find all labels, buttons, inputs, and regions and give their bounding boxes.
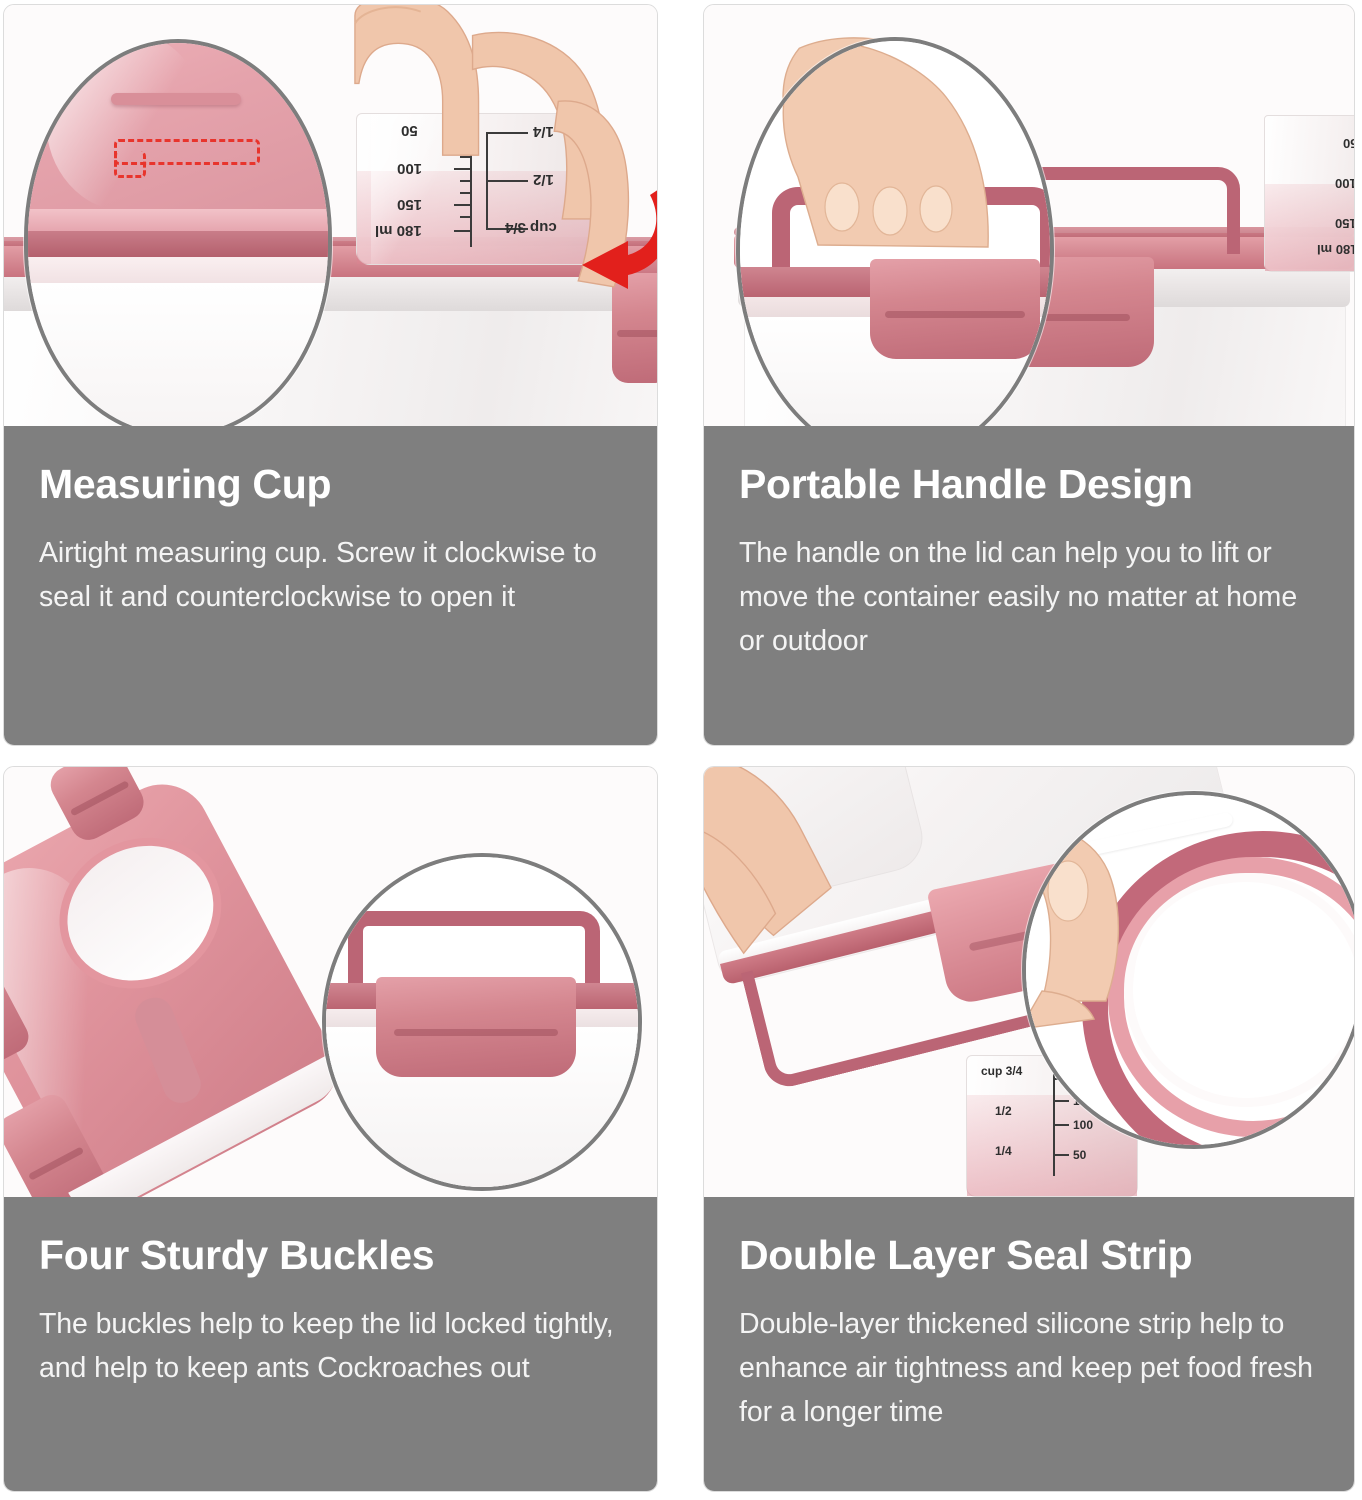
magnifier-lens <box>322 853 642 1191</box>
product-photo-measuring-cup: 50 100 150 180 ml 1/4 1/2 cup 3/4 <box>4 5 657 426</box>
screw-tab-highlight-foot <box>114 151 146 178</box>
card-body: Double-layer thickened silicone strip he… <box>739 1302 1320 1434</box>
illustration-measuring-cup: 50 100 150 180 ml 1/4 1/2 cup 3/4 <box>4 5 657 426</box>
card-body: The handle on the lid can help you to li… <box>739 531 1320 663</box>
caption-four-sturdy-buckles: Four Sturdy Buckles The buckles help to … <box>4 1197 657 1491</box>
illustration-buckles <box>4 767 657 1197</box>
card-title: Measuring Cup <box>39 464 623 505</box>
magnifier-content <box>26 41 330 426</box>
magnifier-content <box>1024 793 1354 1147</box>
product-photo-portable-handle: 50 100 150 180 ml <box>704 5 1354 426</box>
product-photo-buckles <box>4 767 657 1197</box>
magnifier-lens <box>1022 791 1354 1149</box>
feature-card-four-sturdy-buckles: Four Sturdy Buckles The buckles help to … <box>3 766 658 1492</box>
card-body: Airtight measuring cup. Screw it clockwi… <box>39 531 623 619</box>
magnifier-content <box>324 855 640 1189</box>
cup-tick <box>1053 1154 1069 1156</box>
caption-measuring-cup: Measuring Cup Airtight measuring cup. Sc… <box>4 426 657 745</box>
card-title: Double Layer Seal Strip <box>739 1235 1320 1276</box>
caption-portable-handle: Portable Handle Design The handle on the… <box>704 426 1354 745</box>
illustration-seal-strip: 180 ml 150 100 50 cup 3/4 1/2 1/4 <box>704 767 1354 1197</box>
magnifier-lens <box>24 39 332 426</box>
feature-card-portable-handle: 50 100 150 180 ml <box>703 4 1355 746</box>
cup-mark-quarter: 1/4 <box>995 1144 1012 1158</box>
illustration-portable-handle: 50 100 150 180 ml <box>704 5 1354 426</box>
zoomed-buckle <box>376 977 576 1077</box>
rotate-arrow-icon <box>564 177 657 297</box>
product-photo-seal-strip: 180 ml 150 100 50 cup 3/4 1/2 1/4 <box>704 767 1354 1197</box>
cup-mark-50: 50 <box>1073 1148 1086 1162</box>
magnifier-lens <box>736 37 1054 426</box>
caption-double-layer-seal-strip: Double Layer Seal Strip Double-layer thi… <box>704 1197 1354 1491</box>
feature-card-measuring-cup: 50 100 150 180 ml 1/4 1/2 cup 3/4 <box>3 4 658 746</box>
feature-grid: 50 100 150 180 ml 1/4 1/2 cup 3/4 <box>0 0 1362 1500</box>
card-title: Portable Handle Design <box>739 464 1320 505</box>
cup-mark-three-quarter: cup 3/4 <box>981 1064 1022 1078</box>
card-title: Four Sturdy Buckles <box>39 1235 623 1276</box>
card-body: The buckles help to keep the lid locked … <box>39 1302 623 1390</box>
cup-mark-half: 1/2 <box>995 1104 1012 1118</box>
magnifier-content <box>738 39 1052 426</box>
feature-card-double-layer-seal-strip: 180 ml 150 100 50 cup 3/4 1/2 1/4 <box>703 766 1355 1492</box>
